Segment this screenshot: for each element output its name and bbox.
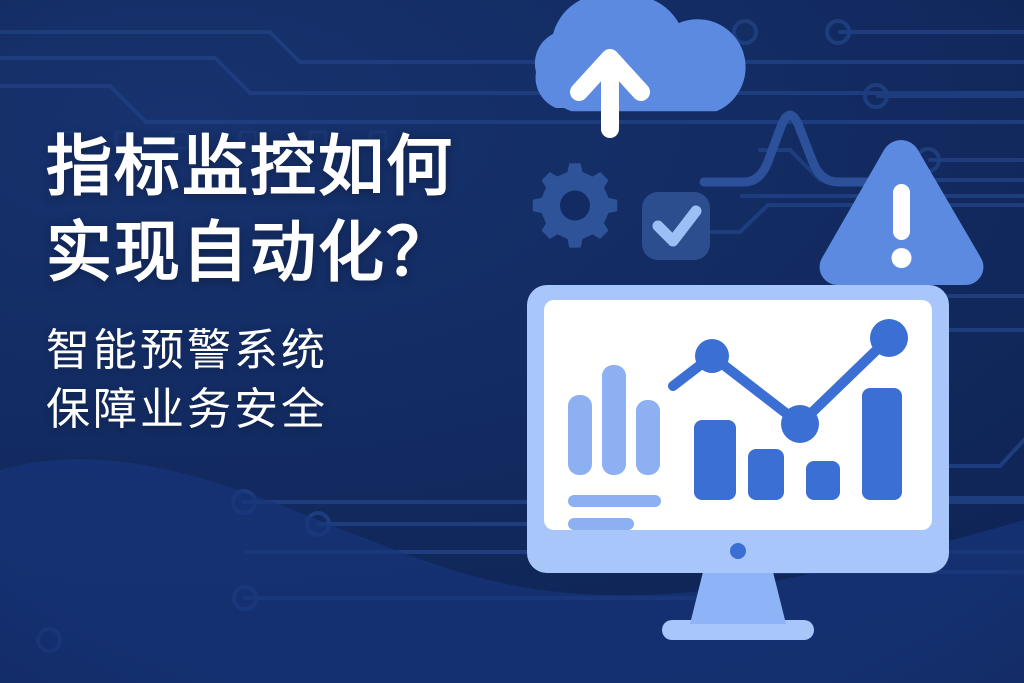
subhead-line-1: 智能预警系统 <box>46 322 546 381</box>
page-title: 指标监控如何 实现自动化？ <box>46 126 546 294</box>
headline-line-2: 实现自动化？ <box>46 212 546 294</box>
main-bar-q2 <box>748 449 784 500</box>
trend-point-1 <box>695 339 729 373</box>
trend-point-2 <box>781 405 819 443</box>
checkbox-check-icon <box>642 192 710 260</box>
poster-canvas: 指标监控如何 实现自动化？ 智能预警系统 保障业务安全 <box>0 0 1024 683</box>
mini-bar-b <box>602 365 626 475</box>
mini-bar-a <box>568 395 592 475</box>
warning-triangle-icon <box>820 140 984 285</box>
trend-point-3 <box>870 319 908 357</box>
text-line-1 <box>568 495 661 507</box>
subhead-line-2: 保障业务安全 <box>46 381 546 440</box>
text-line-2 <box>568 518 634 530</box>
main-bar-q1 <box>694 420 736 500</box>
main-bar-q3 <box>806 461 840 500</box>
cloud-upload-icon <box>535 0 746 138</box>
monitor-camera-dot <box>730 543 746 559</box>
mini-bar-c <box>636 400 660 475</box>
headline-block: 指标监控如何 实现自动化？ 智能预警系统 保障业务安全 <box>46 126 546 440</box>
monitor-stand-neck <box>690 572 786 624</box>
pulse-waveform-icon <box>704 115 872 182</box>
headline-line-1: 指标监控如何 <box>46 126 546 208</box>
main-bar-q4 <box>862 388 902 500</box>
page-subtitle: 智能预警系统 保障业务安全 <box>46 322 546 440</box>
